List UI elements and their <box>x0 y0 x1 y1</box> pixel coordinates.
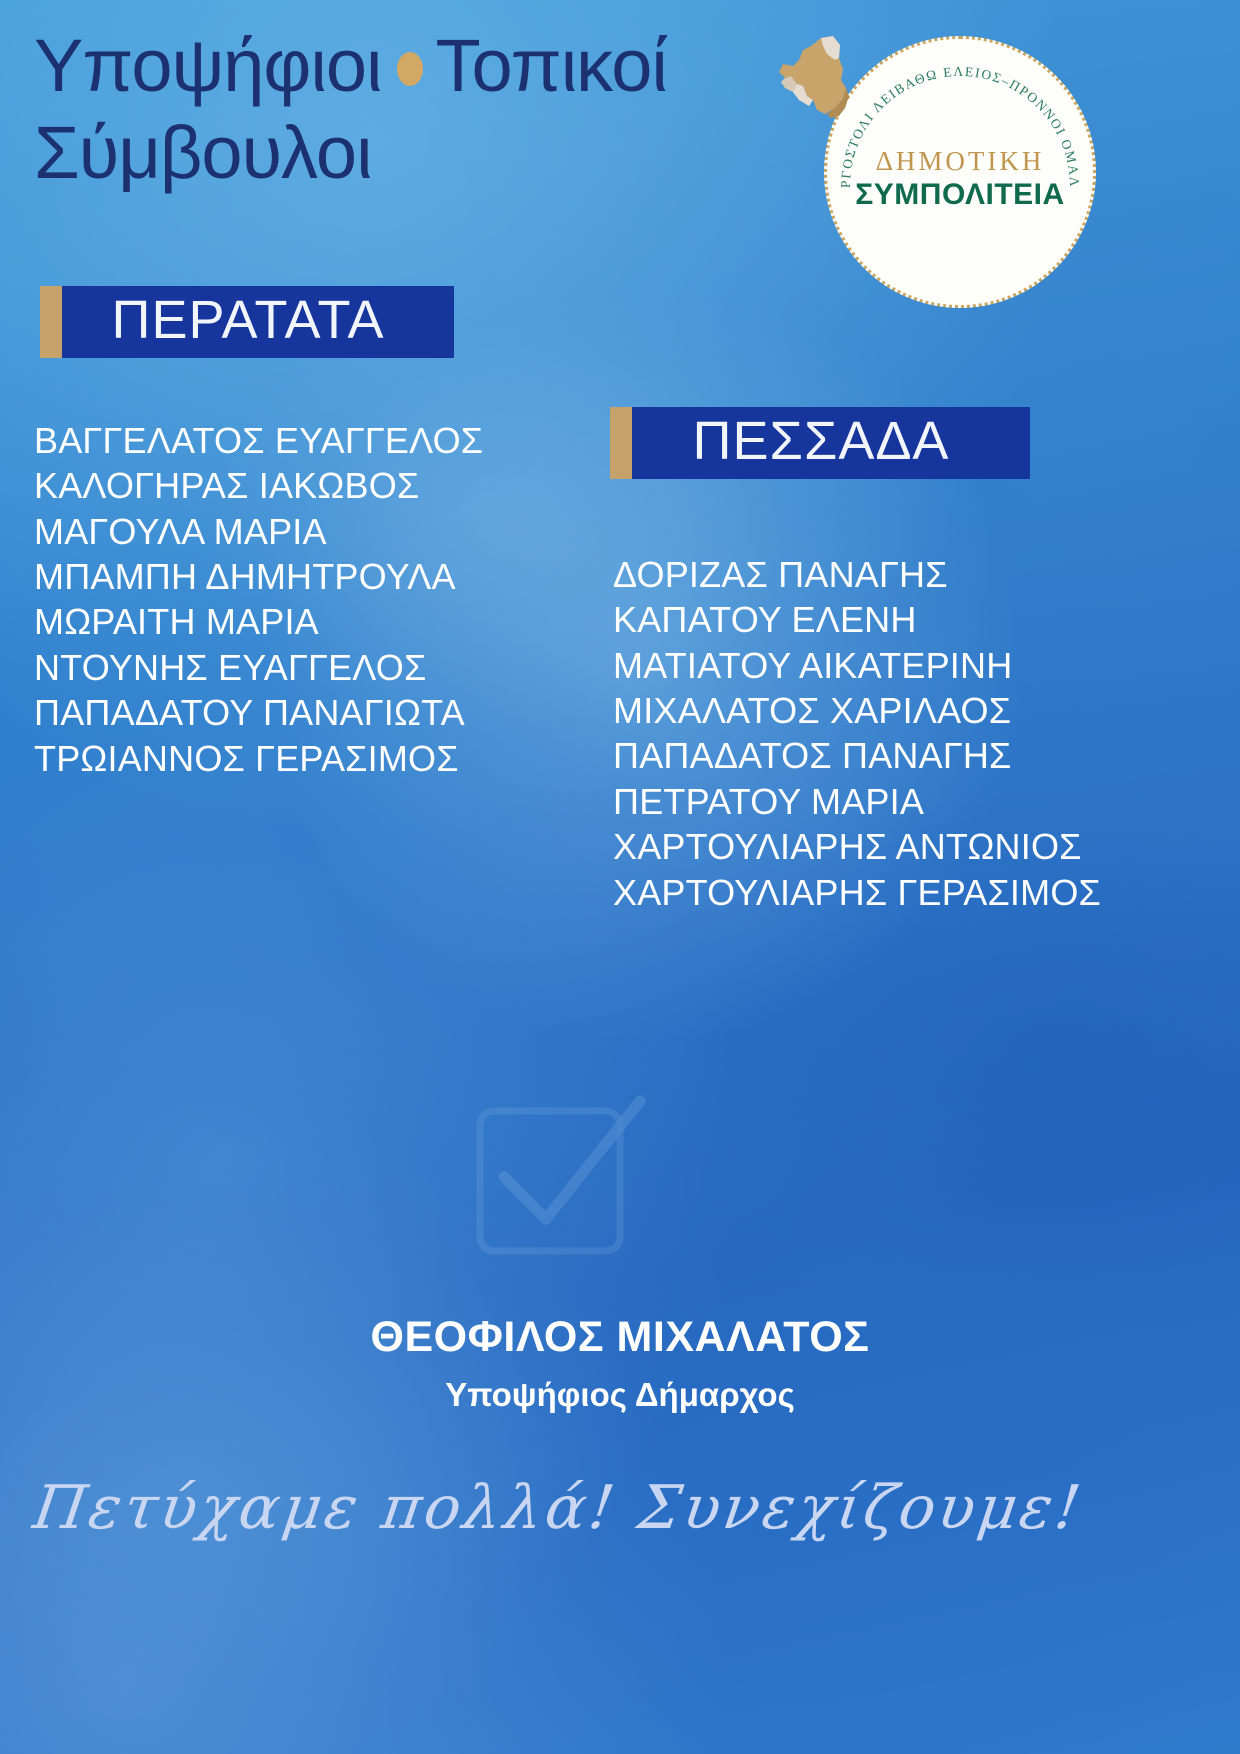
candidate-list-pessada: ΔΟΡΙΖΑΣ ΠΑΝΑΓΗΣ ΚΑΠΑΤΟΥ ΕΛΕΝΗ ΜΑΤΙΑΤΟΥ Α… <box>613 552 1101 915</box>
list-item: ΤΡΩΙΑΝΝΟΣ ΓΕΡΑΣΙΜΟΣ <box>34 736 483 781</box>
list-item: ΜΑΤΙΑΤΟΥ ΑΙΚΑΤΕΡΙΝΗ <box>613 643 1101 688</box>
mayor-candidate-role: Υποψήφιος Δήμαρχος <box>0 1376 1240 1414</box>
section-banner-pessada: ΠΕΣΣΑΔΑ <box>610 407 1030 479</box>
poster-title: ΥποψήφιοιΤοπικοί Σύμβουλοι <box>34 22 794 197</box>
list-item: ΜΑΓΟΥΛΑ ΜΑΡΙΑ <box>34 509 483 554</box>
list-item: ΜΙΧΑΛΑΤΟΣ ΧΑΡΙΛΑΟΣ <box>613 688 1101 733</box>
list-item: ΠΑΠΑΔΑΤΟΣ ΠΑΝΑΓΗΣ <box>613 733 1101 778</box>
list-item: ΚΑΠΑΤΟΥ ΕΛΕΝΗ <box>613 597 1101 642</box>
bullet-dot-icon <box>397 52 423 86</box>
list-item: ΧΑΡΤΟΥΛΙΑΡΗΣ ΓΕΡΑΣΙΜΟΣ <box>613 870 1101 915</box>
banner-label-peratata: ΠΕΡΑΤΑΤΑ <box>62 283 454 361</box>
banner-label-pessada: ΠΕΣΣΑΔΑ <box>632 404 1030 482</box>
candidate-list-peratata: ΒΑΓΓΕΛΑΤΟΣ ΕΥΑΓΓΕΛΟΣ ΚΑΛΟΓΗΡΑΣ ΙΑΚΩΒΟΣ Μ… <box>34 418 483 781</box>
mayor-candidate-name: ΘΕΟΦΙΛΟΣ ΜΙΧΑΛΑΤΟΣ <box>0 1313 1240 1362</box>
list-item: ΜΩΡΑΙΤΗ ΜΑΡΙΑ <box>34 599 483 644</box>
logo-line-dimotiki: ΔΗΜΟΤΙΚΗ <box>824 146 1096 177</box>
section-banner-peratata: ΠΕΡΑΤΑΤΑ <box>40 286 454 358</box>
logo-line-sympoliteia: ΣΥΜΠΟΛΙΤΕΙΑ <box>824 178 1096 212</box>
list-item: ΒΑΓΓΕΛΑΤΟΣ ΕΥΑΓΓΕΛΟΣ <box>34 418 483 463</box>
checkbox-checked-icon <box>470 1085 650 1265</box>
list-item: ΔΟΡΙΖΑΣ ΠΑΝΑΓΗΣ <box>613 552 1101 597</box>
list-item: ΧΑΡΤΟΥΛΙΑΡΗΣ ΑΝΤΩΝΙΟΣ <box>613 824 1101 869</box>
kefalonia-island-map-icon <box>769 36 879 128</box>
list-item: ΚΑΛΟΓΗΡΑΣ ΙΑΚΩΒΟΣ <box>34 463 483 508</box>
banner-accent-bar <box>610 407 632 479</box>
title-word-candidates: Υποψήφιοι <box>34 24 381 107</box>
title-line-2: Σύμβουλοι <box>34 109 794 196</box>
list-item: ΝΤΟΥΝΗΣ ΕΥΑΓΓΕΛΟΣ <box>34 645 483 690</box>
list-item: ΜΠΑΜΠΗ ΔΗΜΗΤΡΟΥΛΑ <box>34 554 483 599</box>
title-line-1: ΥποψήφιοιΤοπικοί <box>34 22 794 109</box>
title-word-local: Τοπικοί <box>435 24 666 107</box>
party-logo: ΑΡΓΟΣΤΟΛΙ ΛΕΙΒΑΘΩ ΕΛΕΙΟΣ–ΠΡΟΝΝΟΙ ΟΜΑΛΑ Δ… <box>824 36 1096 308</box>
poster-root: ΥποψήφιοιΤοπικοί Σύμβουλοι ΑΡΓΟΣΤΟΛΙ ΛΕΙ… <box>0 0 1240 1754</box>
list-item: ΠΕΤΡΑΤΟΥ ΜΑΡΙΑ <box>613 779 1101 824</box>
list-item: ΠΑΠΑΔΑΤΟΥ ΠΑΝΑΓΙΩΤΑ <box>34 690 483 735</box>
campaign-slogan: Πετύχαμε πολλά! Συνεχίζουμε! <box>29 1473 1209 1543</box>
banner-accent-bar <box>40 286 62 358</box>
